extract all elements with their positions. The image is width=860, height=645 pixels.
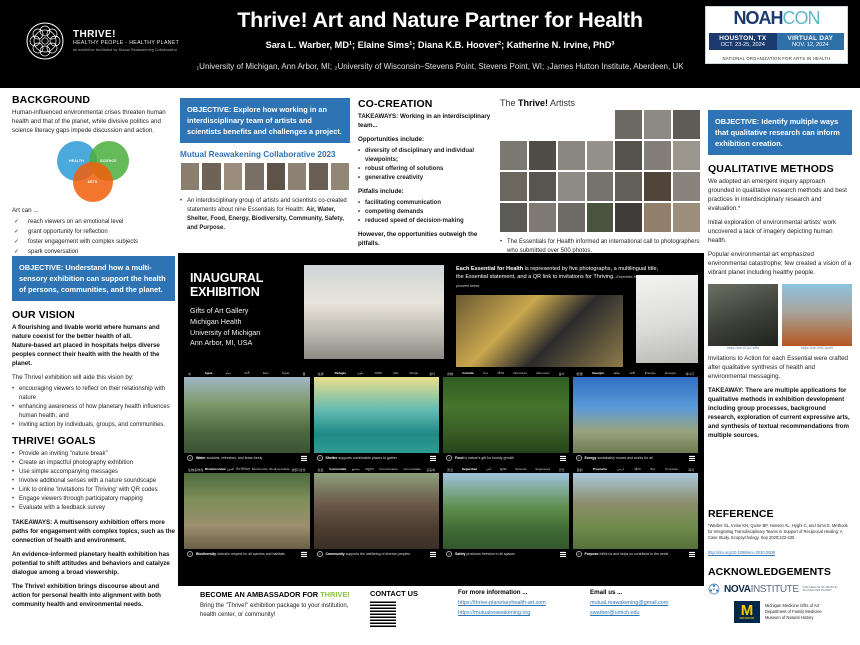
um-sublabel: MICHIGAN bbox=[740, 618, 755, 620]
mrc-notes: An interdisciplinary group of artists an… bbox=[180, 197, 350, 233]
acknowledgements-heading: ACKNOWLEDGEMENTS bbox=[708, 566, 856, 578]
pitfalls-heading: Pitfalls include: bbox=[358, 188, 493, 197]
lang-label: Propósito bbox=[665, 467, 678, 472]
essential-name: Purpose bbox=[585, 552, 599, 556]
essential-text: produces freedom in all spaces bbox=[466, 552, 515, 556]
portrait bbox=[330, 162, 350, 191]
lang-label: But bbox=[651, 467, 656, 472]
lang-label: مياه bbox=[226, 371, 231, 376]
audio-icon[interactable]: ♫ bbox=[317, 551, 323, 557]
photo-energy bbox=[573, 377, 699, 453]
qual-takeaway: TAKEAWAY: There are multiple application… bbox=[708, 387, 852, 441]
qual-para-3: Popular environmental art emphasized env… bbox=[708, 251, 852, 278]
lang-label: Energía bbox=[592, 371, 603, 376]
essential-text: is nature's gift for bounty growth bbox=[464, 456, 514, 460]
qual-after-image: Invitations to Action for each Essential… bbox=[708, 355, 852, 382]
ambassador-text: Bring the "Thrive!" exhibition package t… bbox=[200, 602, 360, 620]
mrc-photo-row bbox=[180, 162, 350, 191]
exhibition-panel: INAUGURAL EXHIBITION Gifts of Art Galler… bbox=[178, 253, 704, 586]
lang-label: غرض bbox=[617, 467, 624, 472]
list-item: An interdisciplinary group of artists an… bbox=[180, 197, 350, 233]
essential-card-safety: 安全 Seguridad أمان सुरक्षा Sécurité Segur… bbox=[443, 467, 569, 558]
list-item: Provide an inviting "nature break" bbox=[12, 450, 175, 459]
list-item: reach viewers on an emotional level bbox=[12, 218, 175, 228]
invitations-board-photo bbox=[636, 275, 698, 363]
list-item: enhancing awareness of how planetary hea… bbox=[12, 403, 175, 421]
essential-text: fulfils us and helps us contribute to th… bbox=[599, 552, 669, 556]
vision-lead: A flourishing and livable world where hu… bbox=[12, 324, 175, 369]
essential-name: Biodiversity bbox=[196, 552, 216, 556]
photo-community bbox=[314, 473, 440, 549]
contact-heading: CONTACT US bbox=[370, 589, 440, 598]
takeaway-left-2: An evidence-informed planetary health ex… bbox=[12, 551, 175, 578]
exhibition-caption: Each Essential for Health is represented… bbox=[456, 265, 661, 290]
lang-label: सुरक्षा bbox=[500, 467, 506, 472]
lang-label: Comunidade bbox=[403, 467, 421, 472]
essential-card-energy: 能量 Energía طاقة ऊर्जा Énergie Energia 에너… bbox=[573, 371, 699, 462]
artist-portrait bbox=[587, 203, 614, 232]
artist-portrait bbox=[673, 110, 700, 139]
artist-portrait bbox=[673, 203, 700, 232]
lang-label: 生物多样性 bbox=[188, 467, 203, 472]
list-item: encouraging viewers to reflect on their … bbox=[12, 385, 175, 403]
list-item: facilitating communication bbox=[358, 199, 493, 208]
lang-label: समुदाय bbox=[365, 467, 373, 472]
qualitative-heading: QUALITATIVE METHODS bbox=[708, 163, 852, 175]
essentials-photo-grid: 水 Agua مياه पानी Eau Água 물 ♫ Water sust… bbox=[184, 371, 698, 563]
exhibition-title-line1: INAUGURAL bbox=[190, 271, 300, 285]
contact-qr-code-icon[interactable] bbox=[370, 601, 396, 627]
lang-label: Segurança bbox=[535, 467, 550, 472]
vision-heading: OUR VISION bbox=[12, 309, 175, 321]
list-item: diversity of disciplinary and individual… bbox=[358, 147, 493, 165]
venn-arts: ARTS bbox=[73, 162, 113, 202]
lang-label: Alimentos bbox=[536, 371, 550, 376]
lang-label: 能量 bbox=[577, 371, 583, 376]
qual-image-left-wrap: https://pin.it/1pCaRit bbox=[708, 284, 778, 350]
essential-name: Safety bbox=[455, 552, 466, 556]
photo-shelter bbox=[314, 377, 440, 453]
email-link-2[interactable]: swarber@umich.edu bbox=[590, 610, 710, 616]
audio-icon[interactable]: ♫ bbox=[187, 455, 193, 461]
noah-location: HOUSTON, TX OCT. 23-25, 2024 bbox=[709, 33, 777, 50]
list-item: competing demands bbox=[358, 208, 493, 217]
artist-portrait bbox=[500, 172, 527, 201]
portrait bbox=[223, 162, 243, 191]
artist-portrait bbox=[644, 203, 671, 232]
artist-portrait bbox=[673, 141, 700, 170]
cocreation-closing: However, the opportunities outweigh the … bbox=[358, 231, 493, 249]
audio-icon[interactable]: ♫ bbox=[187, 551, 193, 557]
qual-image-pair: https://pin.it/1pCaRit https://pin.it/bC… bbox=[708, 284, 852, 350]
poster-canvas: THRIVE! HEALTHY PEOPLE - HEALTHY PLANET … bbox=[0, 0, 860, 645]
artist-portrait-grid bbox=[500, 110, 700, 232]
lang-label: مجتمع bbox=[352, 467, 360, 472]
ambassador-heading: BECOME AN AMBASSADOR FOR THRIVE! bbox=[200, 590, 360, 599]
lang-label: التنوع bbox=[227, 467, 234, 472]
artist-portrait bbox=[529, 203, 556, 232]
audio-icon[interactable]: ♫ bbox=[576, 455, 582, 461]
art-can-label: Art can ... bbox=[12, 207, 175, 216]
list-item: Use simple accompanying messages bbox=[12, 468, 175, 477]
qr-code-icon[interactable] bbox=[301, 551, 307, 557]
list-item: foster engagement with complex subjects bbox=[12, 238, 175, 248]
nova-wordmark: NOVAINSTITUTE bbox=[724, 584, 799, 595]
logo-title: THRIVE! bbox=[73, 30, 179, 41]
lang-label: आश्रय bbox=[375, 371, 382, 376]
contact-block: CONTACT US bbox=[370, 589, 440, 627]
email-block: Email us ... mutual.reawakening@gmail.co… bbox=[590, 589, 710, 620]
essential-card-biodiversity: 生物多样性 Biodiversidad التنوع जैव विविधता B… bbox=[184, 467, 310, 558]
noah-date: OCT. 23-25, 2024 bbox=[721, 42, 765, 48]
author-list: Sara L. Warber, MD¹; Elaine Sims¹; Diana… bbox=[150, 40, 730, 50]
essential-caption-bar: ♫ Biodiversity includes respect for all … bbox=[184, 549, 310, 558]
audio-icon[interactable]: ♫ bbox=[317, 455, 323, 461]
lang-label: Energia bbox=[665, 371, 676, 376]
photo-purpose bbox=[573, 473, 699, 549]
essential-name: Energy bbox=[585, 456, 597, 460]
qual-image-right-caption: https://pin.it/bCqnWf bbox=[782, 346, 852, 350]
essential-text: sustains, refreshes, and flows freely bbox=[206, 456, 263, 460]
artist-portrait bbox=[500, 203, 527, 232]
mrc-title: Mutual Reawakening Collaborative 2023 bbox=[180, 150, 350, 159]
artist-portrait bbox=[529, 141, 556, 170]
lang-label: 물 bbox=[303, 371, 306, 376]
lang-label: Biodiversidad bbox=[205, 467, 225, 472]
essential-statement: Safety produces freedom in all spaces bbox=[455, 552, 557, 556]
audio-icon[interactable]: ♫ bbox=[576, 551, 582, 557]
artist-portrait bbox=[615, 141, 642, 170]
qual-image-left-caption: https://pin.it/1pCaRit bbox=[708, 346, 778, 350]
list-item: grant opportunity for reflection bbox=[12, 228, 175, 238]
artist-portrait bbox=[558, 172, 585, 201]
column-acknowledgements: ACKNOWLEDGEMENTS NOVAINSTITUTE FOR HEALT… bbox=[708, 566, 856, 623]
artist-portrait bbox=[673, 172, 700, 201]
artist-portrait bbox=[615, 110, 642, 139]
artists-heading: The Thrive! Artists bbox=[500, 98, 700, 108]
lang-label: 공동체 bbox=[426, 467, 435, 472]
list-item: inviting action by individuals, groups, … bbox=[12, 421, 175, 430]
objective-box-mid: OBJECTIVE: Explore how working in an int… bbox=[180, 98, 350, 143]
artist-portrait bbox=[615, 172, 642, 201]
nova-institute-logo: NOVAINSTITUTE FOR HEALTH OF PEOPLE, PLAC… bbox=[708, 583, 856, 595]
objective-box-left: OBJECTIVE: Understand how a multi-sensor… bbox=[12, 256, 175, 301]
qr-code-icon[interactable] bbox=[560, 551, 566, 557]
essential-card-shelter: 住房 Refugio مأوى आश्रय Abri Abrigo 쉼터 ♫ S… bbox=[314, 371, 440, 462]
ambassador-block: BECOME AN AMBASSADOR FOR THRIVE! Bring t… bbox=[200, 590, 360, 620]
list-item: reduced speed of decision-making bbox=[358, 217, 493, 226]
artist-portrait bbox=[615, 203, 642, 232]
michigan-units: Michigan Medicine Gifts of Art Departmen… bbox=[765, 603, 822, 621]
essential-caption-bar: ♫ Food is nature's gift for bounty growt… bbox=[443, 453, 569, 462]
essential-caption-bar: ♫ Community supports the wellbeing of di… bbox=[314, 549, 440, 558]
lang-label: طاقة bbox=[613, 371, 620, 376]
noah-virtual-date: NOV. 12, 2024 bbox=[792, 42, 829, 48]
lang-label: 쉼터 bbox=[429, 371, 435, 376]
lang-label: غذاء bbox=[483, 371, 489, 376]
lang-label: Refugio bbox=[335, 371, 347, 376]
more-info-block: For more information ... https://thrive-… bbox=[458, 589, 583, 620]
portrait bbox=[287, 162, 307, 191]
portrait bbox=[308, 162, 328, 191]
lang-label: Eau bbox=[263, 371, 269, 376]
ambassador-head-pre: BECOME AN AMBASSADOR FOR bbox=[200, 590, 320, 599]
reference-doi-link[interactable]: http://doi.org/10.1089/eco.2020.0008 bbox=[708, 550, 775, 555]
lang-label: 안전 bbox=[559, 467, 565, 472]
lang-label: भोजन bbox=[497, 371, 504, 376]
column-cocreation-left: OBJECTIVE: Explore how working in an int… bbox=[180, 98, 350, 238]
artist-portrait bbox=[644, 110, 671, 139]
photo-food bbox=[443, 377, 569, 453]
qual-para-2: Initial exploration of environmental art… bbox=[708, 219, 852, 246]
venn-diagram: HEALTH SCIENCE ARTS bbox=[49, 141, 139, 203]
lang-label: उद्देश्य bbox=[634, 467, 640, 472]
cocreation-takeaway: TAKEAWAYS: Working in an interdisciplina… bbox=[358, 113, 493, 131]
artist-portrait bbox=[558, 141, 585, 170]
essential-name: Shelter bbox=[326, 456, 338, 460]
essential-statement: Water sustains, refreshes, and flows fre… bbox=[196, 456, 298, 460]
audio-icon[interactable]: ♫ bbox=[446, 455, 452, 461]
portrait bbox=[201, 162, 221, 191]
essential-statement: Food is nature's gift for bounty growth bbox=[455, 456, 557, 460]
michigan-logo-row: M MICHIGAN Michigan Medicine Gifts of Ar… bbox=[734, 601, 856, 623]
ambassador-head-brand: THRIVE! bbox=[320, 590, 350, 599]
gallery-hallway-photo bbox=[304, 265, 444, 359]
qr-code-icon[interactable] bbox=[430, 455, 436, 461]
essential-text: supports comfortable places to gather bbox=[337, 456, 397, 460]
exhibit-wall-photo bbox=[456, 295, 623, 367]
photo-water bbox=[184, 377, 310, 453]
portrait bbox=[180, 162, 200, 191]
more-info-heading: For more information ... bbox=[458, 589, 583, 596]
lang-label: أمان bbox=[486, 467, 492, 472]
essential-statement: Community supports the wellbeing of dive… bbox=[326, 552, 428, 556]
lang-label: पानी bbox=[244, 371, 249, 376]
portrait bbox=[244, 162, 264, 191]
essential-caption-bar: ♫ Safety produces freedom in all spaces bbox=[443, 549, 569, 558]
exhibition-title-block: INAUGURAL EXHIBITION Gifts of Art Galler… bbox=[190, 271, 300, 349]
list-item: Evaluate with a feedback survey bbox=[12, 504, 175, 513]
lang-label: जैव विविधता bbox=[236, 467, 250, 472]
list-item: Engage viewers through participatory map… bbox=[12, 495, 175, 504]
cocreation-heading: CO-CREATION bbox=[358, 98, 493, 110]
takeaway-left-3: The Thrive! exhibition brings discourse … bbox=[12, 583, 175, 610]
lang-label: Communauté bbox=[379, 467, 398, 472]
opportunities-list: diversity of disciplinary and individual… bbox=[358, 147, 493, 183]
vision-points: encouraging viewers to reflect on their … bbox=[12, 385, 175, 430]
qr-code-icon[interactable] bbox=[689, 455, 695, 461]
qr-code-icon[interactable] bbox=[301, 455, 307, 461]
artists-head-brand: Thrive! bbox=[518, 98, 548, 108]
reference-text: *Warber SL, Irvine KN, Quinn BP, Hansen … bbox=[708, 523, 852, 541]
artists-head-pre: The bbox=[500, 98, 518, 108]
lang-label: Énergie bbox=[645, 371, 656, 376]
lang-label: 水 bbox=[188, 371, 191, 376]
lang-label: 社区 bbox=[318, 467, 324, 472]
lang-label: Biodiversidade bbox=[269, 467, 289, 472]
audio-icon[interactable]: ♫ bbox=[446, 551, 452, 557]
more-info-link-1[interactable]: https://thrive-planetaryhealth-art.com bbox=[458, 600, 583, 606]
qual-image-right-wrap: https://pin.it/bCqnWf bbox=[782, 284, 852, 350]
pitfalls-list: facilitating communication competing dem… bbox=[358, 199, 493, 226]
background-heading: BACKGROUND bbox=[12, 94, 175, 106]
artist-portrait bbox=[558, 203, 585, 232]
noah-virtual: VIRTUAL DAY NOV. 12, 2024 bbox=[777, 33, 845, 50]
poster-header: THRIVE! HEALTHY PEOPLE - HEALTHY PLANET … bbox=[0, 0, 860, 88]
noah-name-a: NOAH bbox=[734, 9, 783, 27]
email-heading: Email us ... bbox=[590, 589, 710, 596]
lang-label: 목적 bbox=[688, 467, 694, 472]
lang-label: Seguridad bbox=[462, 467, 477, 472]
essential-card-water: 水 Agua مياه पानी Eau Água 물 ♫ Water sust… bbox=[184, 371, 310, 462]
artist-portrait bbox=[500, 141, 527, 170]
list-item: robust offering of solutions bbox=[358, 165, 493, 174]
essentials-row: 生物多样性 Biodiversidad التنوع जैव विविधता B… bbox=[184, 467, 698, 558]
lang-label: 目的 bbox=[577, 467, 583, 472]
goals-list: Provide an inviting "nature break" Creat… bbox=[12, 450, 175, 513]
portrait bbox=[266, 162, 286, 191]
lang-label: 음식 bbox=[559, 371, 565, 376]
goals-heading: THRIVE! GOALS bbox=[12, 435, 175, 447]
essential-caption-bar: ♫ Energy sustainably moves and works for… bbox=[573, 453, 699, 462]
qual-para-1: We adopted an emergent inquiry approach … bbox=[708, 178, 852, 214]
artist-portrait bbox=[587, 141, 614, 170]
lang-label: Biodiversité bbox=[252, 467, 268, 472]
essential-text: includes respect for all species and hab… bbox=[216, 552, 285, 556]
artist-portrait bbox=[529, 172, 556, 201]
artists-head-post: Artists bbox=[548, 98, 575, 108]
lang-label: Agua bbox=[205, 371, 213, 376]
essential-card-purpose: 目的 Propósito غرض उद्देश्य But Propósito … bbox=[573, 467, 699, 558]
lang-label: Nourriture bbox=[513, 371, 527, 376]
qr-code-icon[interactable] bbox=[560, 455, 566, 461]
exhibition-title-line2: EXHIBITION bbox=[190, 285, 300, 299]
noahcon-logo: NOAH CON HOUSTON, TX OCT. 23-25, 2024 VI… bbox=[705, 6, 848, 64]
lang-label: 住房 bbox=[318, 371, 324, 376]
grid-spacer bbox=[558, 110, 585, 139]
artist-portrait bbox=[644, 172, 671, 201]
michigan-block-m-icon: M MICHIGAN bbox=[734, 601, 760, 623]
reference-heading: REFERENCE bbox=[708, 508, 852, 520]
essential-statement: Energy sustainably moves and works for a… bbox=[585, 456, 687, 460]
essential-card-community: 社区 Comunidad مجتمع समुदाय Communauté Com… bbox=[314, 467, 440, 558]
lang-label: Abri bbox=[393, 371, 399, 376]
nova-bold: NOVA bbox=[724, 584, 751, 595]
noah-virtual-label: VIRTUAL DAY bbox=[787, 35, 833, 43]
essential-statement: Purpose fulfils us and helps us contribu… bbox=[585, 552, 687, 556]
artist-portrait bbox=[644, 141, 671, 170]
artist-portrait bbox=[587, 172, 614, 201]
qr-code-icon[interactable] bbox=[430, 551, 436, 557]
noah-footer: NATIONAL ORGANIZATION FOR ARTS IN HEALTH bbox=[709, 56, 844, 61]
vision-intro: The Thrive! exhibition will aide this vi… bbox=[12, 374, 175, 383]
essential-name: Food bbox=[455, 456, 464, 460]
photo-safety bbox=[443, 473, 569, 549]
noah-city: HOUSTON, TX bbox=[719, 35, 766, 43]
caption-bold: Each Essential for Health bbox=[456, 266, 523, 272]
lang-label: Comida bbox=[462, 371, 473, 376]
qr-code-icon[interactable] bbox=[689, 551, 695, 557]
exhibition-venue: Gifts of Art Gallery Michigan Health Uni… bbox=[190, 306, 300, 349]
background-text: Human-influenced environmental crises th… bbox=[12, 109, 175, 136]
artwork-robot-image bbox=[708, 284, 778, 346]
essential-caption-bar: ♫ Shelter supports comfortable places to… bbox=[314, 453, 440, 462]
lang-label: Propósito bbox=[593, 467, 607, 472]
lang-label: Abrigo bbox=[409, 371, 418, 376]
lang-label: Comunidad bbox=[329, 467, 346, 472]
lang-label: 安全 bbox=[447, 467, 453, 472]
column-cocreation: CO-CREATION TAKEAWAYS: Working in an int… bbox=[358, 98, 493, 254]
lang-label: Água bbox=[282, 371, 289, 376]
lang-label: 생물다양성 bbox=[291, 467, 305, 472]
essential-statement: Shelter supports comfortable places to g… bbox=[326, 456, 428, 460]
essential-caption-bar: ♫ Water sustains, refreshes, and flows f… bbox=[184, 453, 310, 462]
takeaway-left-1: TAKEAWAYS: A multisensory exhibition off… bbox=[12, 519, 175, 546]
grid-spacer bbox=[587, 110, 614, 139]
column-qualitative: OBJECTIVE: Identify multiple ways that q… bbox=[708, 110, 852, 446]
lang-label: Sécurité bbox=[515, 467, 526, 472]
grid-spacer bbox=[529, 110, 556, 139]
essential-card-food: 食物 Comida غذاء भोजन Nourriture Alimentos… bbox=[443, 371, 569, 462]
essential-caption-bar: ♫ Purpose fulfils us and helps us contri… bbox=[573, 549, 699, 558]
essential-statement: Biodiversity includes respect for all sp… bbox=[196, 552, 298, 556]
page-title: Thrive! Art and Nature Partner for Healt… bbox=[190, 8, 690, 33]
um-letter: M bbox=[741, 604, 754, 618]
opportunities-heading: Opportunities include: bbox=[358, 136, 493, 145]
more-info-link-2[interactable]: https://mutualreawakening.org bbox=[458, 610, 583, 616]
lang-label: 食物 bbox=[447, 371, 453, 376]
lang-label: ऊर्जा bbox=[630, 371, 636, 376]
objective-box-right: OBJECTIVE: Identify multiple ways that q… bbox=[708, 110, 852, 155]
list-item: generative creativity bbox=[358, 174, 493, 183]
grid-spacer bbox=[500, 110, 527, 139]
column-artists: The Thrive! Artists bbox=[500, 98, 700, 279]
list-item: Link to online 'Invitations for Thriving… bbox=[12, 486, 175, 495]
essential-name: Community bbox=[326, 552, 345, 556]
artwork-cliff-image bbox=[782, 284, 852, 346]
email-link-1[interactable]: mutual.reawakening@gmail.com bbox=[590, 600, 710, 606]
column-reference: REFERENCE *Warber SL, Irvine KN, Quinn B… bbox=[708, 508, 852, 559]
list-item: Involve additional senses with a nature … bbox=[12, 477, 175, 486]
nova-tagline: FOR HEALTH OF PEOPLE, PLACES AND PLANET bbox=[803, 586, 845, 593]
thrive-mandala-icon bbox=[25, 21, 65, 61]
noah-name-b: CON bbox=[783, 9, 820, 27]
nova-light: INSTITUTE bbox=[751, 584, 799, 595]
column-vision: OBJECTIVE: Understand how a multi-sensor… bbox=[12, 256, 175, 615]
list-item: Create an impactful photography exhibiti… bbox=[12, 459, 175, 468]
essential-text: sustainably moves and works for all bbox=[596, 456, 652, 460]
photo-biodiversity bbox=[184, 473, 310, 549]
column-background: BACKGROUND Human-influenced environmenta… bbox=[12, 94, 175, 283]
essential-text: supports the wellbeing of diverse people… bbox=[345, 552, 410, 556]
lang-label: 에너지 bbox=[685, 371, 694, 376]
essentials-row: 水 Agua مياه पानी Eau Água 물 ♫ Water sust… bbox=[184, 371, 698, 462]
essential-name: Water bbox=[196, 456, 206, 460]
lang-label: مأوى bbox=[357, 371, 364, 376]
